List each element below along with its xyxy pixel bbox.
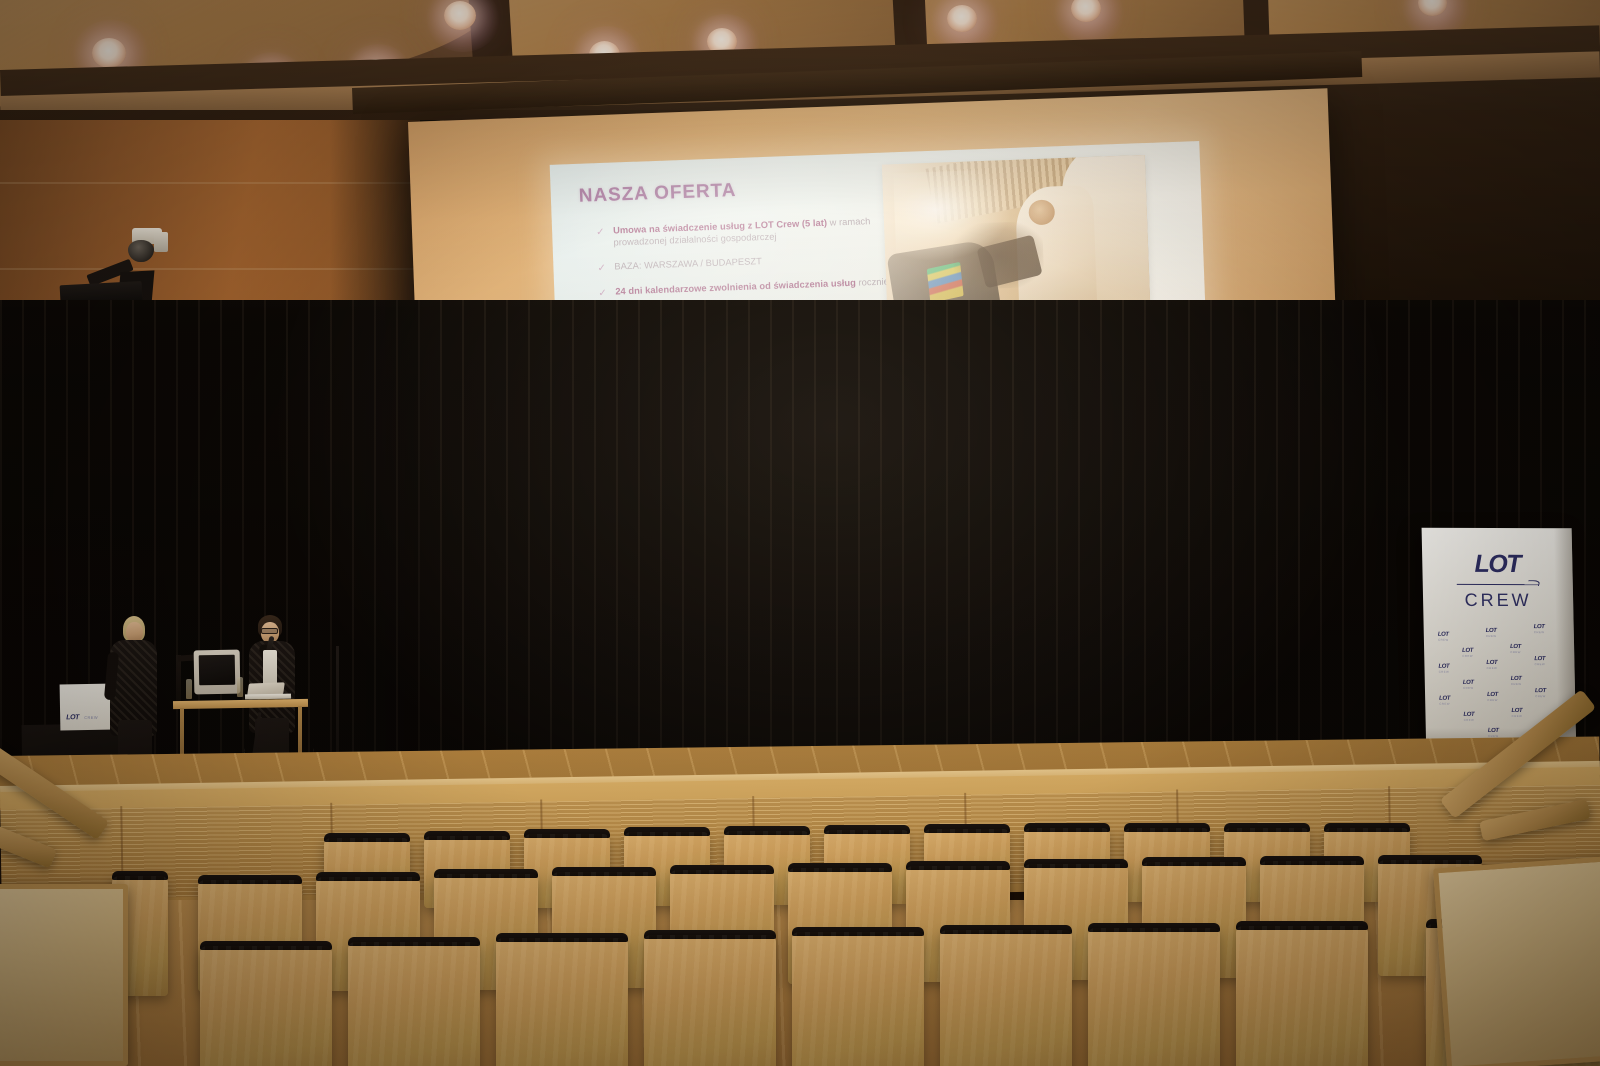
seat[interactable] xyxy=(200,946,332,1066)
banner-lot-wordmark: LOT xyxy=(1474,550,1520,579)
bullet-strong: 24 dni kalendarzowe zwolnienia od świadc… xyxy=(615,278,856,297)
seat-grain xyxy=(1236,926,1368,1066)
banner-tile-logo: LOTCREW xyxy=(1535,688,1546,698)
bullet-baza: ✓ BAZA: WARSZAWA / BUDAPESZT xyxy=(597,250,897,275)
water-bottle xyxy=(237,677,243,697)
bullet-text: 24 dni kalendarzowe zwolnienia od świadc… xyxy=(615,276,889,300)
seat[interactable] xyxy=(792,932,924,1066)
ceiling-downlight xyxy=(92,38,126,68)
seat[interactable] xyxy=(940,930,1072,1066)
sign-crew-wordmark: CREW xyxy=(84,715,98,720)
sign-lot-wordmark: LOT xyxy=(66,714,79,721)
check-icon: ✓ xyxy=(596,225,607,250)
bullet-umowa: ✓ Umowa na świadczenie usług z LOT Crew … xyxy=(596,214,897,250)
seat[interactable] xyxy=(1236,926,1368,1066)
rail-infill-panel-left xyxy=(0,884,128,1066)
bullet-dni-wolne: ✓ 24 dni kalendarzowe zwolnienia od świa… xyxy=(598,275,898,300)
camera-base xyxy=(154,232,168,252)
banner-tile-logo: LOTCREW xyxy=(1511,676,1522,686)
stage-monitor-display xyxy=(194,650,241,695)
seat-grain xyxy=(644,935,776,1066)
banner-tile-logo: LOTCREW xyxy=(1463,680,1474,690)
photo-warm-wash xyxy=(882,155,1151,321)
banner-tile-logo: LOTCREW xyxy=(1463,712,1474,722)
bullet-text: BAZA: WARSZAWA / BUDAPESZT xyxy=(614,255,762,275)
banner-crew-wordmark: CREW xyxy=(1464,590,1531,611)
banner-tile-logo: LOTCREW xyxy=(1487,692,1498,702)
bullet-text: Umowa na świadczenie usług z LOT Crew (5… xyxy=(613,214,897,249)
lot-swoosh-icon xyxy=(1527,580,1541,586)
ceiling-downlight xyxy=(947,5,977,32)
check-icon: ✓ xyxy=(598,286,609,301)
seat-grain xyxy=(940,930,1072,1066)
presenter-head xyxy=(126,622,143,642)
seat[interactable] xyxy=(1088,928,1220,1066)
banner-tile-logo: LOTCREW xyxy=(1510,644,1521,654)
banner-tile-logo: LOTCREW xyxy=(1486,660,1497,670)
seat-grain xyxy=(1088,928,1220,1066)
slide-title: NASZA OFERTA xyxy=(578,180,736,208)
banner-tile-logo: LOTCREW xyxy=(1439,696,1450,706)
seat-grain xyxy=(496,938,628,1066)
seat[interactable] xyxy=(644,935,776,1066)
cockpit-pilots-photo xyxy=(882,155,1151,321)
seat-grain xyxy=(200,946,332,1066)
ceiling-downlight xyxy=(444,1,476,30)
auditorium-scene: NASZA OFERTA ✓ Umowa na świadczenie usłu… xyxy=(0,0,1600,1066)
banner-tile-logo: LOTCREW xyxy=(1462,648,1473,658)
seat-grain xyxy=(792,932,924,1066)
presenter-glasses xyxy=(261,628,278,634)
water-bottle xyxy=(186,679,192,699)
bullet-plain: BAZA: WARSZAWA / BUDAPESZT xyxy=(614,256,762,271)
rail-infill-panel-right xyxy=(1433,856,1600,1066)
check-icon: ✓ xyxy=(597,261,608,276)
seat[interactable] xyxy=(496,938,628,1066)
seat[interactable] xyxy=(348,942,480,1066)
banner-tile-logo: LOTCREW xyxy=(1511,708,1522,718)
seat-grain xyxy=(348,942,480,1066)
banner-tile-logo: LOTCREW xyxy=(1438,664,1449,674)
monitor-screen xyxy=(199,655,236,686)
banner-tile-logo: LOTCREW xyxy=(1534,624,1545,634)
banner-tile-logo: LOTCREW xyxy=(1534,656,1545,666)
banner-tile-logo: LOTCREW xyxy=(1486,628,1497,638)
banner-tile-logo: LOTCREW xyxy=(1438,632,1449,642)
bullet-plain: rocznie xyxy=(856,277,889,288)
monitor-stand-post xyxy=(176,655,181,707)
